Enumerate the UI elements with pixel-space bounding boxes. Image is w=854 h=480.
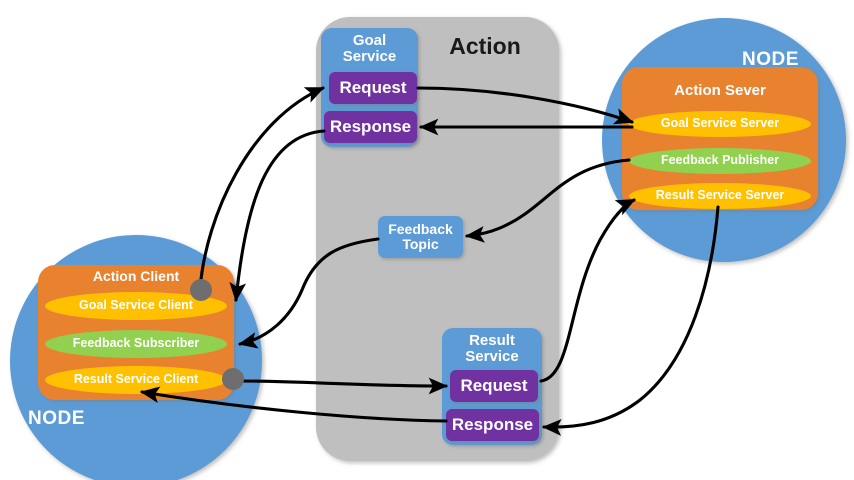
- server-node-label: NODE: [742, 50, 822, 71]
- client-node-label: NODE: [28, 409, 128, 430]
- result-request-hit[interactable]: [450, 370, 538, 402]
- goal-response-hit[interactable]: [324, 111, 417, 143]
- feedback-subscriber-hit[interactable]: [45, 330, 227, 358]
- action-panel-title: Action: [425, 34, 545, 59]
- result-service-client-hit[interactable]: [45, 366, 227, 394]
- action-diagram-canvas: Action Goal Service Request Response Fee…: [0, 0, 854, 480]
- action-server-title: Action Sever: [622, 83, 818, 99]
- goal-service-client-hit[interactable]: [45, 292, 227, 320]
- result-service-title: Result Service: [442, 333, 542, 365]
- result-response-hit[interactable]: [446, 409, 539, 441]
- goal-service-title: Goal Service: [321, 33, 418, 65]
- action-client-title: Action Client: [38, 269, 234, 284]
- goal-request-hit[interactable]: [329, 72, 417, 104]
- result-service-server-hit[interactable]: [629, 183, 811, 209]
- feedback-topic-hit[interactable]: [378, 216, 463, 258]
- feedback-publisher-hit[interactable]: [629, 148, 811, 174]
- goal-service-server-hit[interactable]: [629, 111, 811, 137]
